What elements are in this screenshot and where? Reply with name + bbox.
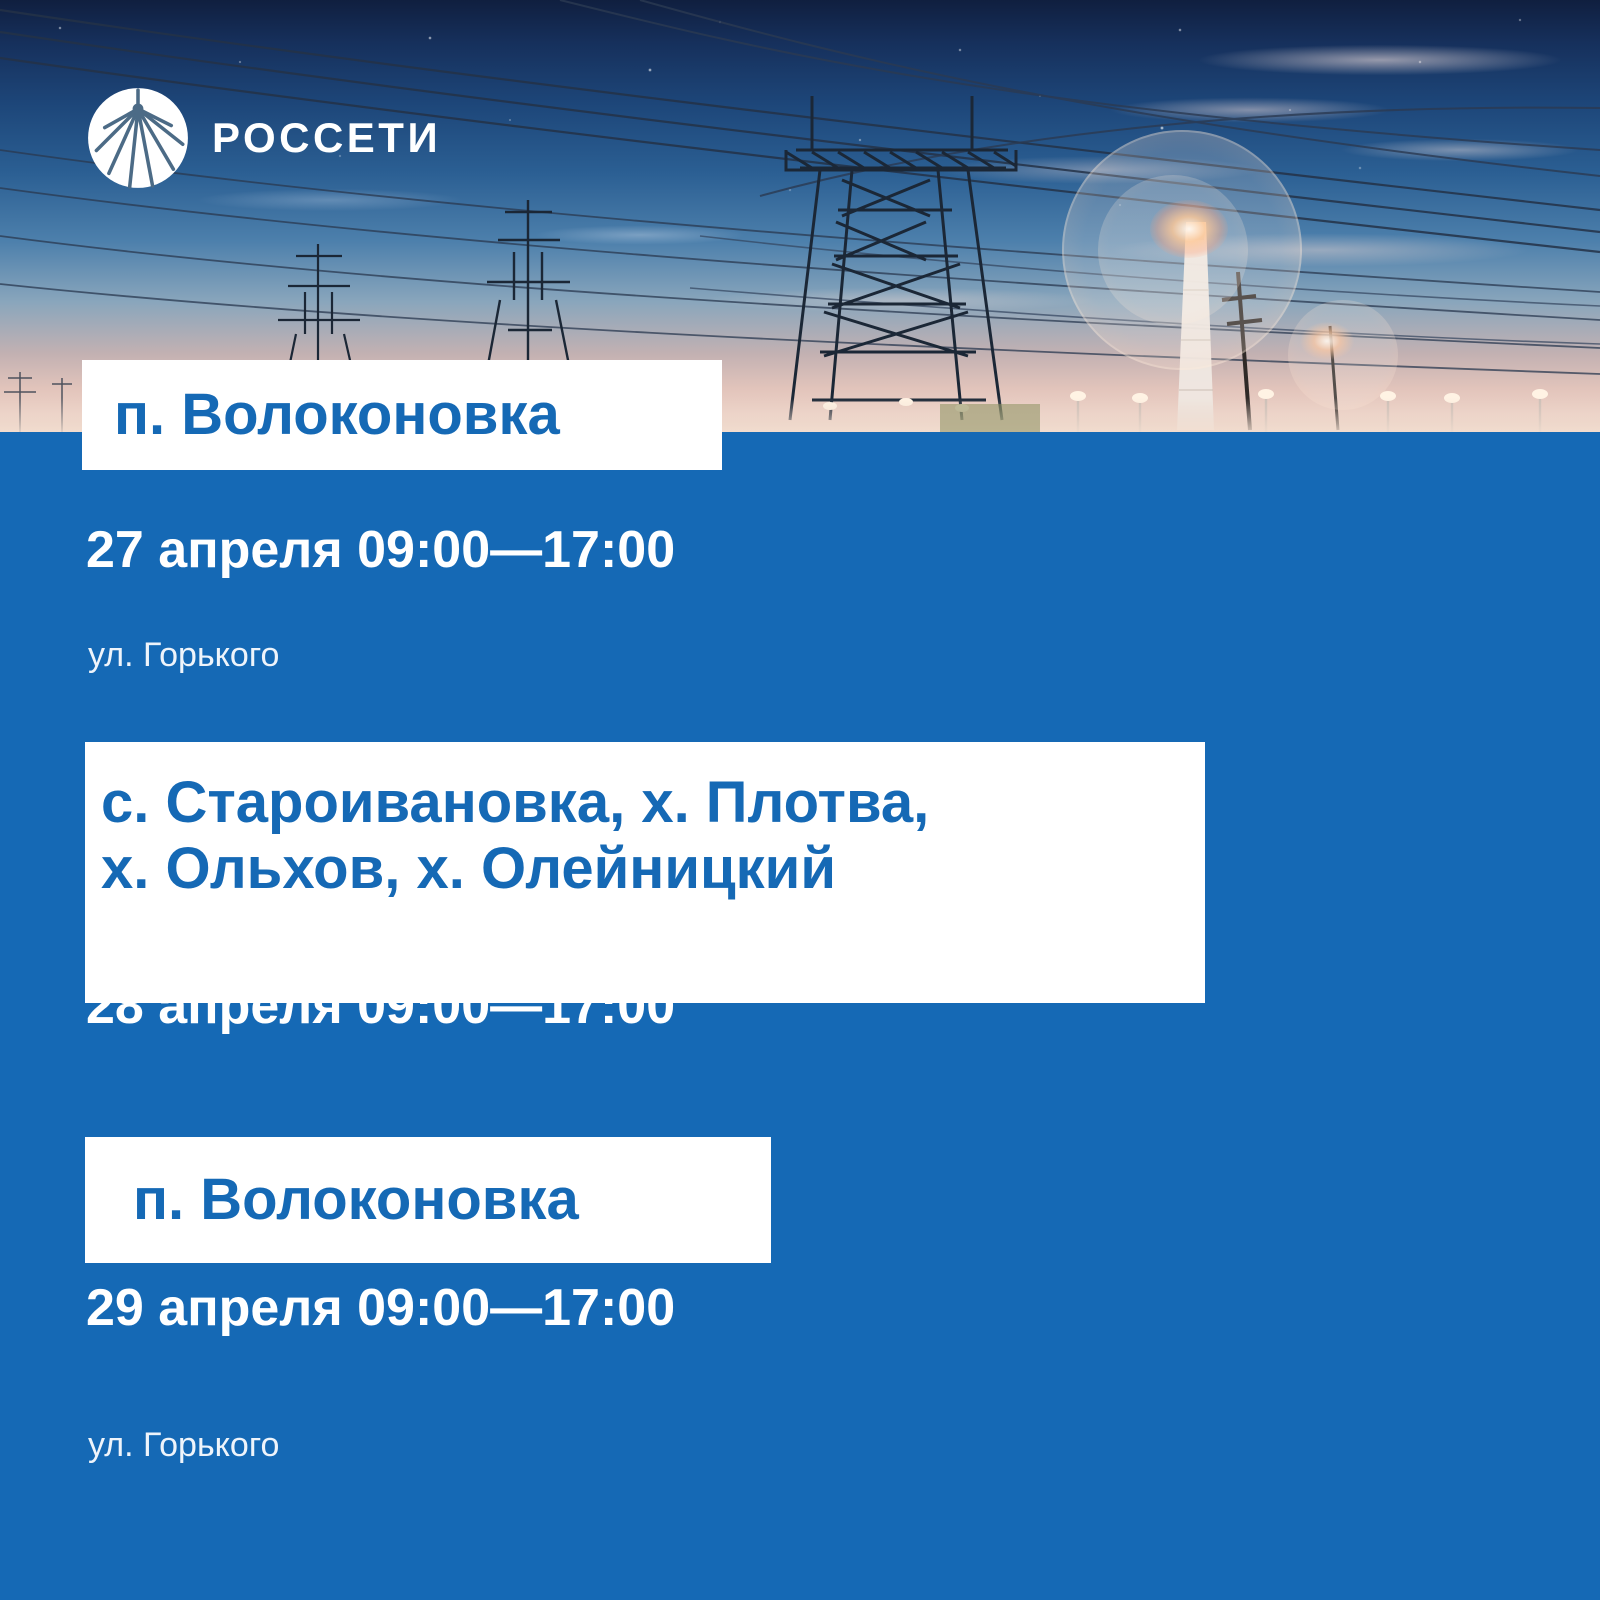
date-time-1: 27 апреля 09:00—17:00	[86, 524, 675, 576]
rosseti-sunburst-logo-icon	[86, 86, 190, 190]
location-label-1: п. Волоконовка	[82, 360, 722, 470]
location-text: п. Волоконовка	[85, 1167, 771, 1233]
brand-name: РОССЕТИ	[212, 117, 441, 159]
date-time-3: 29 апреля 09:00—17:00	[86, 1282, 675, 1334]
location-text: п. Волоконовка	[82, 382, 722, 448]
date-time-2: 28 апреля 09:00—17:00	[86, 980, 675, 1032]
outage-announcement-poster: РОССЕТИ п. Волоконовка 27 апреля 09:00—1…	[0, 0, 1600, 1600]
location-text-line2: х. Ольхов, х. Олейницкий	[85, 836, 1205, 902]
rosseti-logo: РОССЕТИ	[86, 86, 441, 190]
street-1: ул. Горького	[88, 638, 279, 672]
location-text-line1: с. Староивановка, х. Плотва,	[85, 770, 1205, 836]
street-2: ул. Горького	[88, 1428, 279, 1462]
location-label-2: с. Староивановка, х. Плотва, х. Ольхов, …	[85, 742, 1205, 1003]
pole-light-glow	[1300, 322, 1354, 360]
mast-light-glow	[1150, 200, 1228, 258]
location-label-3: п. Волоконовка	[85, 1137, 771, 1263]
